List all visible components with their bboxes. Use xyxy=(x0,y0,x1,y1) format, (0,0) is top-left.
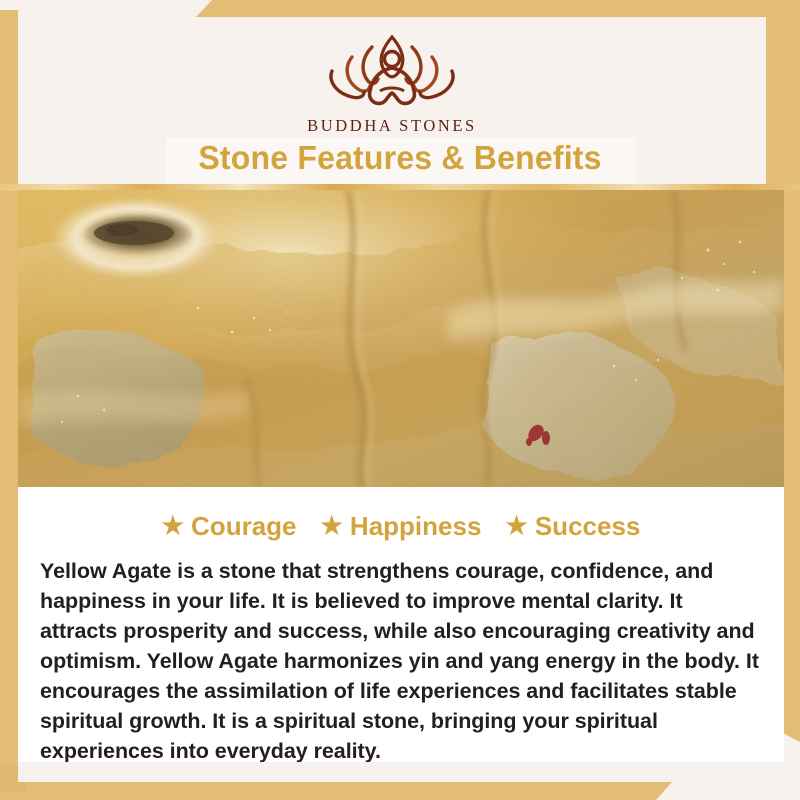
benefit-item-happiness: ★ Happiness xyxy=(321,511,482,542)
frame-bottom-accent xyxy=(0,782,800,800)
stone-description: Yellow Agate is a stone that strengthens… xyxy=(40,556,762,766)
benefit-label: Happiness xyxy=(350,511,482,542)
star-icon: ★ xyxy=(162,514,184,539)
frame-top-accent xyxy=(0,0,800,17)
benefit-label: Success xyxy=(535,511,641,542)
stone-info-poster: BUDDHA STONES Stone Features & Benefits xyxy=(0,0,800,800)
page-title: Stone Features & Benefits xyxy=(12,139,788,177)
star-icon: ★ xyxy=(505,514,527,539)
bottom-spacer xyxy=(18,762,784,782)
lotus-meditation-icon xyxy=(302,29,482,113)
brand-name: BUDDHA STONES xyxy=(307,116,477,136)
benefit-label: Courage xyxy=(191,511,296,542)
benefit-keywords: ★ Courage ★ Happiness ★ Success xyxy=(18,511,784,542)
benefit-item-courage: ★ Courage xyxy=(162,511,297,542)
brand-logo: BUDDHA STONES xyxy=(18,29,766,136)
yellow-agate-slab-photo xyxy=(18,190,784,487)
stone-photo: Yellow Agate xyxy=(18,190,784,487)
content-panel: ★ Courage ★ Happiness ★ Success Yellow A… xyxy=(18,487,784,762)
benefit-item-success: ★ Success xyxy=(505,511,640,542)
star-icon: ★ xyxy=(321,514,343,539)
frame-left-accent xyxy=(0,10,18,785)
